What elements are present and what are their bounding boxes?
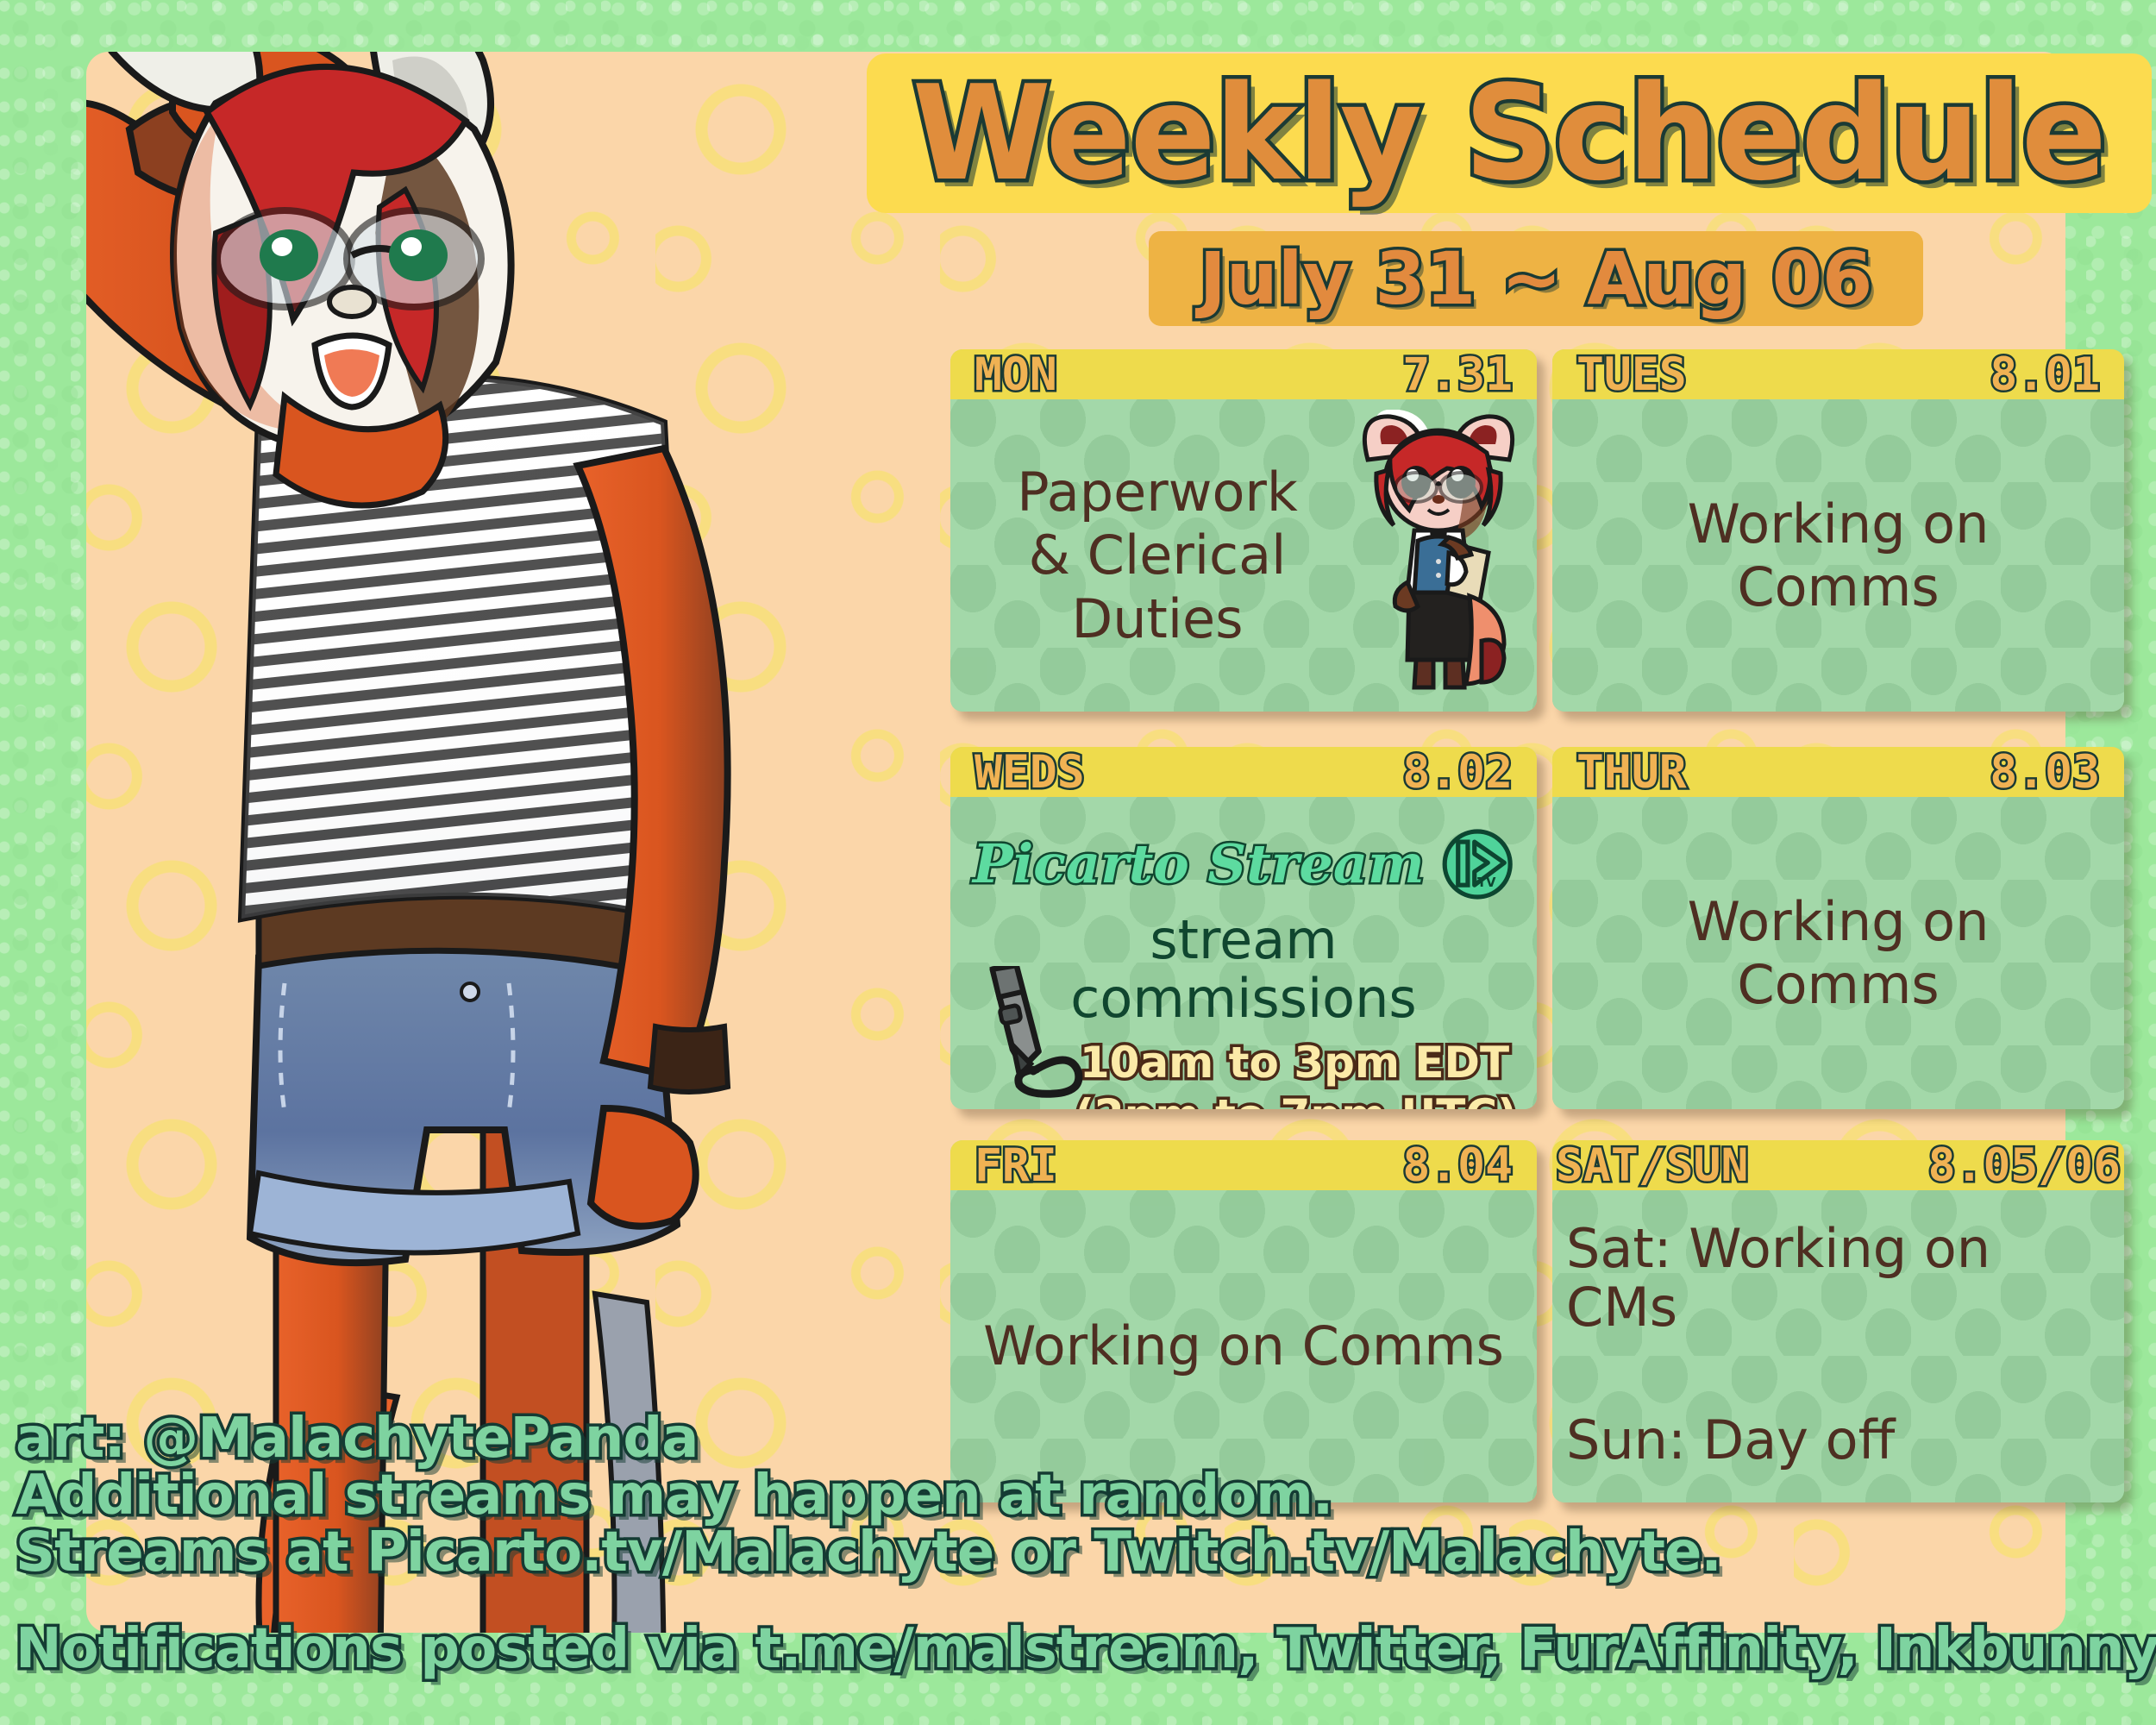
day-label-tues: TUES [1576,352,1687,398]
mon-line-2: & Clerical [985,524,1330,586]
card-body-tues: Working on Comms [1552,399,2124,712]
svg-text:TV: TV [1477,875,1496,890]
date-range-banner: July 31 ~ Aug 06 [1149,231,1923,326]
card-header-mon: MON 7.31 [950,349,1537,399]
card-body-weds: Picarto Stream TV stream commissions 10a… [950,797,1537,1109]
card-header-fri: FRI 8.04 [950,1140,1537,1190]
footer-block: art: @MalachytePanda Additional streams … [16,1411,2146,1678]
page-title: Weekly Schedule [912,68,2106,199]
stream-time-edt: 10am to 3pm EDT [1075,1037,1514,1089]
satsun-spacer [1566,1337,2110,1411]
date-label-tues: 8.01 [1990,352,2100,398]
mon-line-1: Paperwork [985,461,1330,524]
picarto-row: Picarto Stream TV [973,823,1514,906]
day-label-fri: FRI [975,1143,1057,1189]
date-range: July 31 ~ Aug 06 [1200,242,1873,315]
date-label-weds: 8.02 [1402,750,1513,795]
day-label-thur: THUR [1576,750,1687,795]
stylus-pen-icon [959,966,1097,1104]
day-label-satsun: SAT/SUN [1556,1143,1748,1189]
mon-line-3: Duties [985,587,1330,650]
date-label-thur: 8.03 [1990,750,2100,795]
card-content-tues: Working on Comms [1552,399,2124,712]
date-label-fri: 8.04 [1402,1143,1513,1189]
card-content-thur: Working on Comms [1552,797,2124,1109]
footer-notifications-line: Notifications posted via t.me/malstream,… [16,1621,2146,1678]
footer-credit-line: art: @MalachytePanda [16,1411,2146,1468]
card-header-weds: WEDS 8.02 [950,747,1537,797]
card-header-tues: TUES 8.01 [1552,349,2124,399]
picarto-tv-logo-icon: TV [1440,823,1514,906]
stream-time-utc: (2pm to 7pm UTC) [1075,1089,1514,1109]
satsun-sat-line: Sat: Working on CMs [1566,1220,2110,1337]
day-card-weds[interactable]: WEDS 8.02 Picarto Stream TV [950,747,1537,1109]
day-label-mon: MON [975,352,1057,398]
title-banner: Weekly Schedule [867,53,2152,213]
footer-stream-links-line: Streams at Picarto.tv/Malachyte or Twitc… [16,1525,2146,1582]
thur-line-1: Working on Comms [1578,890,2098,1016]
card-body-mon: Paperwork & Clerical Duties [950,399,1537,712]
day-card-tues[interactable]: TUES 8.01 Working on Comms [1552,349,2124,712]
card-header-satsun: SAT/SUN 8.05/06 [1552,1140,2124,1190]
fri-line-1: Working on Comms [976,1314,1511,1377]
day-card-thur[interactable]: THUR 8.03 Working on Comms [1552,747,2124,1109]
date-label-mon: 7.31 [1402,352,1513,398]
red-panda-chibi-mascot-icon [1352,410,1525,694]
day-card-mon[interactable]: MON 7.31 Paperwork & Clerical Duties [950,349,1537,712]
day-label-weds: WEDS [975,750,1085,795]
tues-line-1: Working on Comms [1578,492,2098,618]
footer-random-streams-line: Additional streams may happen at random. [16,1468,2146,1525]
card-body-thur: Working on Comms [1552,797,2124,1109]
card-header-thur: THUR 8.03 [1552,747,2124,797]
picarto-stream-label: Picarto Stream [973,837,1425,891]
date-label-satsun: 8.05/06 [1928,1143,2121,1189]
